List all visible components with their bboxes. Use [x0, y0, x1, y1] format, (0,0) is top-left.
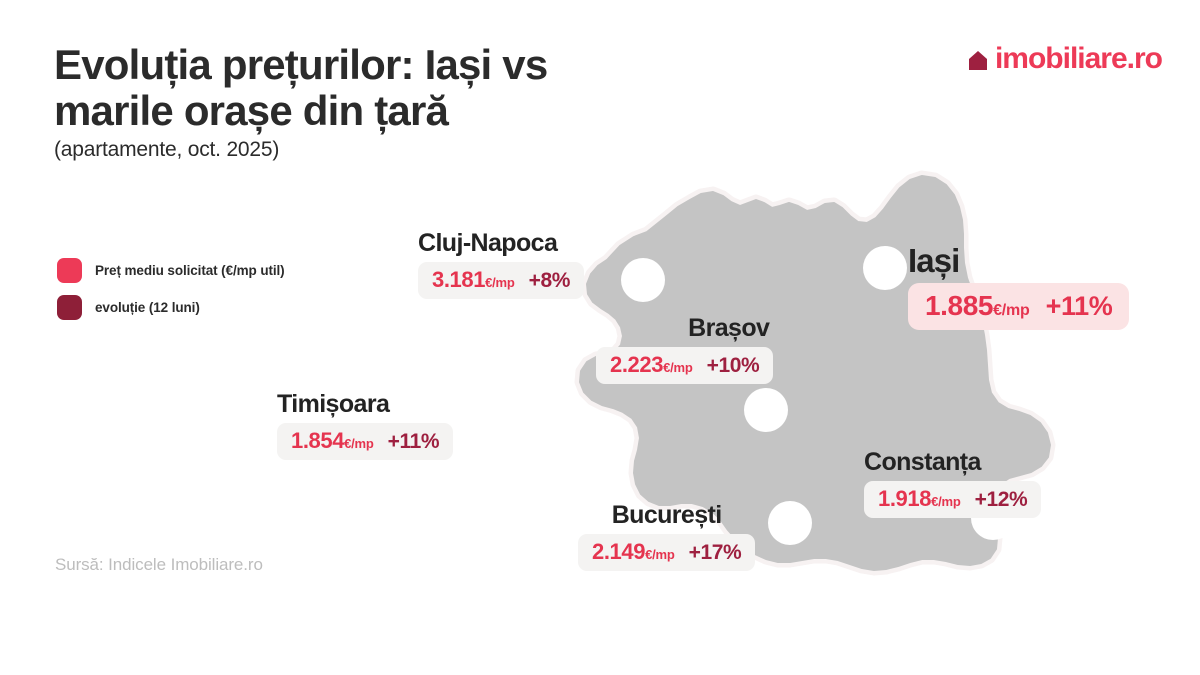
price-unit-brasov: €/mp [663, 361, 693, 374]
city-name-cluj-napoca: Cluj-Napoca [418, 231, 584, 256]
price-unit-constanta: €/mp [931, 495, 961, 508]
city-dot-bucuresti [768, 501, 812, 545]
city-pill-iasi: 1.885 €/mp +11% [908, 283, 1129, 330]
city-pill-timisoara: 1.854 €/mp +11% [277, 423, 453, 460]
city-callout-timisoara[interactable]: Timișoara 1.854 €/mp +11% [277, 392, 453, 460]
delta-value-bucuresti: +17% [689, 542, 742, 563]
price-value-cluj-napoca: 3.181 [432, 269, 485, 291]
price-unit-timisoara: €/mp [344, 437, 374, 450]
delta-value-cluj-napoca: +8% [529, 270, 570, 291]
source-note: Sursă: Indicele Imobiliare.ro [55, 555, 263, 575]
city-name-constanta: Constanța [864, 450, 1041, 475]
city-callout-bucuresti[interactable]: București 2.149 €/mp +17% [578, 503, 755, 571]
delta-value-brasov: +10% [707, 355, 760, 376]
price-value-brasov: 2.223 [610, 354, 663, 376]
legend-item-price: Preț mediu solicitat (€/mp util) [57, 258, 357, 283]
price-value-bucuresti: 2.149 [592, 541, 645, 563]
legend-swatch-price [57, 258, 82, 283]
city-dot-cluj [621, 258, 665, 302]
delta-value-constanta: +12% [975, 489, 1028, 510]
title-line-1: Evoluția prețurilor: Iași vs [54, 42, 754, 88]
legend-label-price: Preț mediu solicitat (€/mp util) [95, 263, 285, 278]
legend-swatch-evolution [57, 295, 82, 320]
price-unit-cluj-napoca: €/mp [485, 276, 515, 289]
city-callout-iasi[interactable]: Iași 1.885 €/mp +11% [908, 244, 1129, 330]
city-dot-brasov [744, 388, 788, 432]
city-name-bucuresti: București [578, 503, 755, 528]
price-unit-bucuresti: €/mp [645, 548, 675, 561]
city-pill-bucuresti: 2.149 €/mp +17% [578, 534, 755, 571]
city-dot-timisoara [468, 386, 512, 430]
city-callout-constanta[interactable]: Constanța 1.918 €/mp +12% [864, 450, 1041, 518]
delta-value-iasi: +11% [1046, 293, 1113, 320]
city-name-brasov: Brașov [596, 316, 773, 341]
price-unit-iasi: €/mp [993, 303, 1030, 319]
city-name-timisoara: Timișoara [277, 392, 453, 417]
logo-text: imobiliare.ro [995, 42, 1162, 76]
city-callout-cluj-napoca[interactable]: Cluj-Napoca 3.181 €/mp +8% [418, 231, 584, 299]
legend-item-evolution: evoluție (12 luni) [57, 295, 357, 320]
price-value-iasi: 1.885 [925, 292, 993, 320]
city-pill-cluj-napoca: 3.181 €/mp +8% [418, 262, 584, 299]
price-value-timisoara: 1.854 [291, 430, 344, 452]
infographic-canvas: Evoluția prețurilor: Iași vs marile oraș… [0, 0, 1200, 675]
city-name-iasi: Iași [908, 244, 1129, 277]
city-callout-brasov[interactable]: Brașov 2.223 €/mp +10% [596, 316, 773, 384]
delta-value-timisoara: +11% [388, 431, 440, 452]
imobiliare-logo[interactable]: imobiliare.ro [995, 42, 1162, 76]
page-title: Evoluția prețurilor: Iași vs marile oraș… [54, 42, 754, 162]
city-pill-constanta: 1.918 €/mp +12% [864, 481, 1041, 518]
title-line-2: marile orașe din țară [54, 88, 754, 134]
city-dot-iasi [863, 246, 907, 290]
page-subtitle: (apartamente, oct. 2025) [54, 138, 754, 162]
city-pill-brasov: 2.223 €/mp +10% [596, 347, 773, 384]
legend: Preț mediu solicitat (€/mp util) evoluți… [57, 258, 357, 332]
legend-label-evolution: evoluție (12 luni) [95, 300, 200, 315]
price-value-constanta: 1.918 [878, 488, 931, 510]
